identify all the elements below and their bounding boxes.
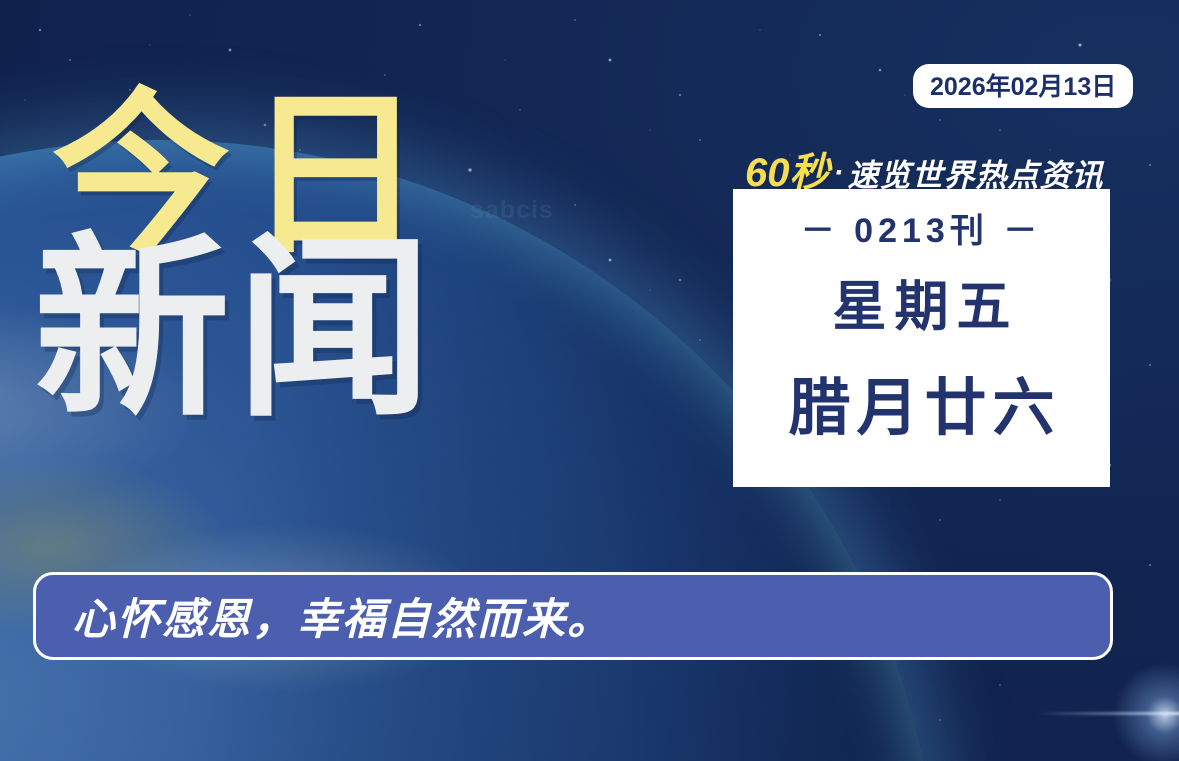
weekday-label: 星期五: [825, 262, 1019, 341]
news-poster: sabcis 今日 新闻 2026年02月13日 60秒·速览世界热点资讯 － …: [0, 0, 1179, 761]
lunar-date-label: 腊月廿六: [782, 357, 1060, 447]
page-title: 今日 新闻: [52, 94, 440, 420]
quote-banner: 心怀感恩，幸福自然而来。: [33, 572, 1113, 660]
quote-text: 心怀感恩，幸福自然而来。: [72, 585, 612, 647]
watermark-text: sabcis: [470, 196, 554, 225]
date-badge: 2026年02月13日: [913, 64, 1133, 108]
issue-number: － 0213刊 －: [801, 203, 1043, 252]
tagline-separator: ·: [830, 156, 848, 189]
headline-line-2: 新闻: [34, 240, 440, 420]
tagline-rest: 速览世界热点资讯: [848, 158, 1104, 193]
info-card: － 0213刊 － 星期五 腊月廿六: [733, 189, 1110, 487]
